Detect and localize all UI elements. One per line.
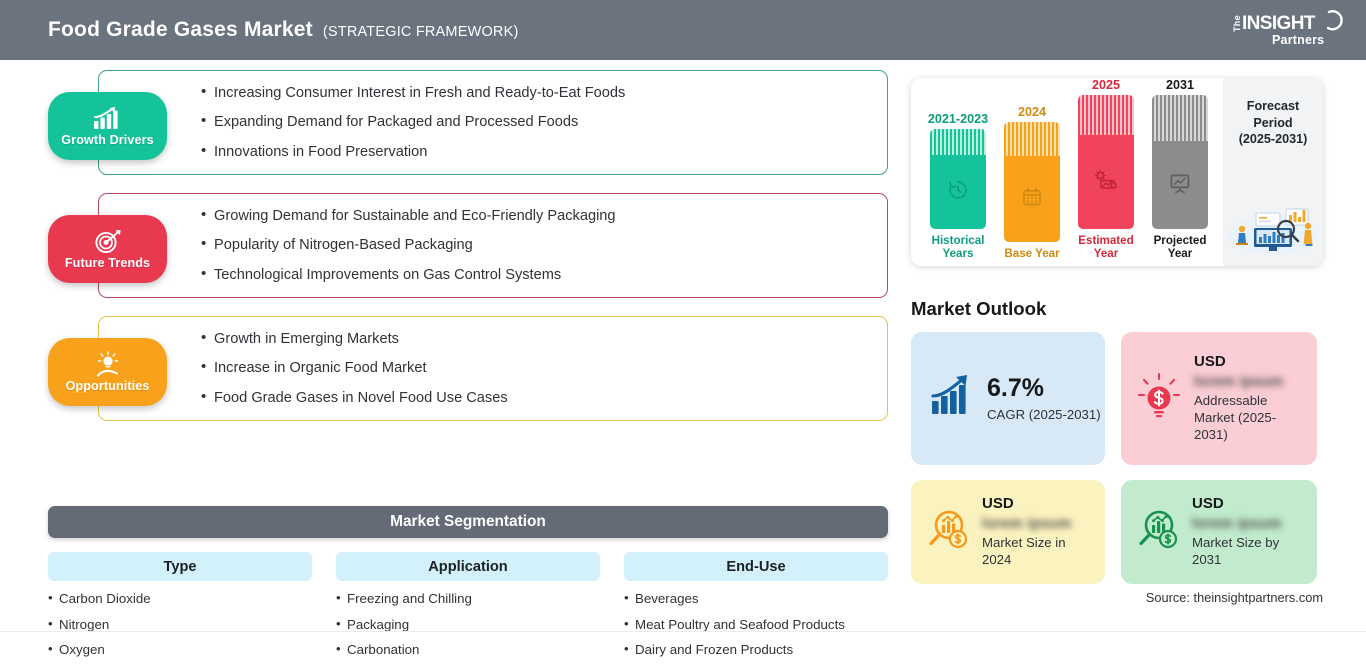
- driver-bullet: Expanding Demand for Packaged and Proces…: [201, 114, 887, 130]
- usd-value-blurred: lorem ipsum: [1192, 516, 1307, 532]
- driver-bullet: Technological Improvements on Gas Contro…: [201, 267, 887, 283]
- driver-panel-opportunities: Growth in Emerging Markets Increase in O…: [98, 316, 888, 421]
- market-outlook-title: Market Outlook: [911, 298, 1046, 320]
- usd-caption: Addressable Market (2025-2031): [1194, 393, 1307, 444]
- badge-growth-drivers[interactable]: Growth Drivers: [48, 92, 167, 160]
- target-dartboard-icon: [92, 229, 124, 255]
- usd-currency-label: USD: [982, 495, 1095, 512]
- list-item: Freezing and Chilling: [336, 592, 600, 607]
- forecast-period-line-2: Period: [1253, 115, 1292, 132]
- segmentation-header: Market Segmentation: [48, 506, 888, 538]
- magnifier-chart-dollar-icon: [1135, 508, 1181, 557]
- list-item: Carbon Dioxide: [48, 592, 312, 607]
- driver-bullet: Growth in Emerging Markets: [201, 331, 887, 347]
- bar-column: [1004, 122, 1060, 242]
- bar-year-label: 2021-2023: [928, 112, 988, 126]
- right-column: 2021-2023: [905, 60, 1366, 635]
- bar-caption: Base Year: [996, 247, 1068, 260]
- list-item: Oxygen: [48, 643, 312, 658]
- usd-caption: Market Size in 2024: [982, 535, 1095, 569]
- bar-column: [1152, 95, 1208, 229]
- data-analytics-people-illustration: [1226, 193, 1320, 260]
- footer-divider: [0, 631, 1366, 635]
- cagr-label: CAGR (2025-2031): [987, 407, 1101, 422]
- page-header: Food Grade Gases Market (STRATEGIC FRAME…: [0, 0, 1366, 60]
- presentation-screen-icon: [1168, 172, 1192, 199]
- page-subtitle: (STRATEGIC FRAMEWORK): [323, 24, 519, 40]
- cagr-value: 6.7%: [987, 376, 1101, 401]
- driver-bullet: Popularity of Nitrogen-Based Packaging: [201, 237, 887, 253]
- lightbulb-hand-icon: [92, 351, 124, 378]
- header-titles: Food Grade Gases Market (STRATEGIC FRAME…: [48, 18, 519, 42]
- insight-partners-logo[interactable]: The INSIGHT Partners: [1226, 6, 1344, 55]
- svg-text:INSIGHT: INSIGHT: [1242, 13, 1316, 34]
- badge-label: Future Trends: [65, 256, 150, 270]
- forecast-period-panel: Forecast Period (2025-2031): [1223, 78, 1323, 266]
- usd-text-block: USD lorem ipsum Addressable Market (2025…: [1194, 353, 1307, 444]
- driver-bullet: Innovations in Food Preservation: [201, 144, 887, 160]
- bar-caption: Projected Year: [1144, 234, 1216, 260]
- bar-column: [930, 129, 986, 229]
- outlook-card-addressable-market: USD lorem ipsum Addressable Market (2025…: [1121, 332, 1317, 465]
- svg-text:The: The: [1232, 15, 1242, 32]
- badge-label: Growth Drivers: [61, 133, 153, 147]
- bar-column: [1078, 95, 1134, 229]
- cagr-text-block: 6.7% CAGR (2025-2031): [987, 376, 1101, 422]
- segmentation-column-title: Application: [336, 552, 600, 581]
- driver-bullet: Increasing Consumer Interest in Fresh an…: [201, 85, 887, 101]
- svg-text:Partners: Partners: [1272, 33, 1324, 47]
- forecast-period-line-3: (2025-2031): [1239, 131, 1308, 148]
- list-item: Beverages: [624, 592, 888, 607]
- segmentation-column-title: Type: [48, 552, 312, 581]
- badge-future-trends[interactable]: Future Trends: [48, 215, 167, 283]
- segmentation-column-end-use: End-Use Beverages Meat Poultry and Seafo…: [624, 552, 888, 669]
- driver-bullet: Food Grade Gases in Novel Food Use Cases: [201, 390, 887, 406]
- usd-text-block: USD lorem ipsum Market Size by 2031: [1192, 495, 1307, 569]
- segmentation-columns: Type Carbon Dioxide Nitrogen Oxygen Appl…: [48, 552, 888, 669]
- driver-panel-growth-drivers: Increasing Consumer Interest in Fresh an…: [98, 70, 888, 175]
- magnifier-chart-dollar-icon: [925, 508, 971, 557]
- outlook-card-cagr: 6.7% CAGR (2025-2031): [911, 332, 1105, 465]
- usd-value-blurred: lorem ipsum: [982, 516, 1095, 532]
- page-title: Food Grade Gases Market: [48, 18, 313, 42]
- calendar-icon: [1021, 186, 1043, 213]
- usd-text-block: USD lorem ipsum Market Size in 2024: [982, 495, 1095, 569]
- forecast-bar-projected-year: 2031 Pro: [1144, 78, 1216, 260]
- forecast-period-chart: 2021-2023: [911, 78, 1323, 266]
- bar-chart-arrow-icon: [91, 106, 125, 132]
- segmentation-column-title: End-Use: [624, 552, 888, 581]
- forecast-bars: 2021-2023: [911, 78, 1223, 266]
- usd-currency-label: USD: [1192, 495, 1307, 512]
- analytics-gear-icon: [1094, 169, 1118, 196]
- usd-caption: Market Size by 2031: [1192, 535, 1307, 569]
- dollar-bulb-icon: [1135, 371, 1183, 426]
- bar-year-label: 2031: [1166, 78, 1194, 92]
- source-attribution: Source: theinsightpartners.com: [1146, 590, 1323, 605]
- forecast-period-line-1: Forecast: [1247, 98, 1300, 115]
- left-column: Increasing Consumer Interest in Fresh an…: [0, 60, 905, 635]
- forecast-bar-historical-years: 2021-2023: [922, 78, 994, 260]
- list-item: Carbonation: [336, 643, 600, 658]
- bar-caption: Historical Years: [922, 234, 994, 260]
- forecast-bar-estimated-year: 2025: [1070, 78, 1142, 260]
- usd-value-blurred: lorem ipsum: [1194, 374, 1307, 390]
- list-item: Dairy and Frozen Products: [624, 643, 888, 658]
- bar-year-label: 2025: [1092, 78, 1120, 92]
- clock-history-icon: [947, 179, 969, 206]
- outlook-card-market-size-2031: USD lorem ipsum Market Size by 2031: [1121, 480, 1317, 584]
- driver-bullet: Growing Demand for Sustainable and Eco-F…: [201, 208, 887, 224]
- badge-label: Opportunities: [66, 379, 150, 393]
- bar-caption: Estimated Year: [1070, 234, 1142, 260]
- forecast-bar-base-year: 2024: [996, 78, 1068, 260]
- driver-panel-future-trends: Growing Demand for Sustainable and Eco-F…: [98, 193, 888, 298]
- badge-opportunities[interactable]: Opportunities: [48, 338, 167, 406]
- infographic-body: Increasing Consumer Interest in Fresh an…: [0, 60, 1366, 635]
- bar-year-label: 2024: [1018, 105, 1046, 119]
- segmentation-column-type: Type Carbon Dioxide Nitrogen Oxygen: [48, 552, 312, 669]
- segmentation-column-application: Application Freezing and Chilling Packag…: [336, 552, 600, 669]
- growth-bar-chart-icon: [929, 374, 977, 423]
- usd-currency-label: USD: [1194, 353, 1307, 370]
- driver-bullet: Increase in Organic Food Market: [201, 360, 887, 376]
- market-segmentation: Market Segmentation Type Carbon Dioxide …: [48, 506, 888, 669]
- outlook-card-market-size-2024: USD lorem ipsum Market Size in 2024: [911, 480, 1105, 584]
